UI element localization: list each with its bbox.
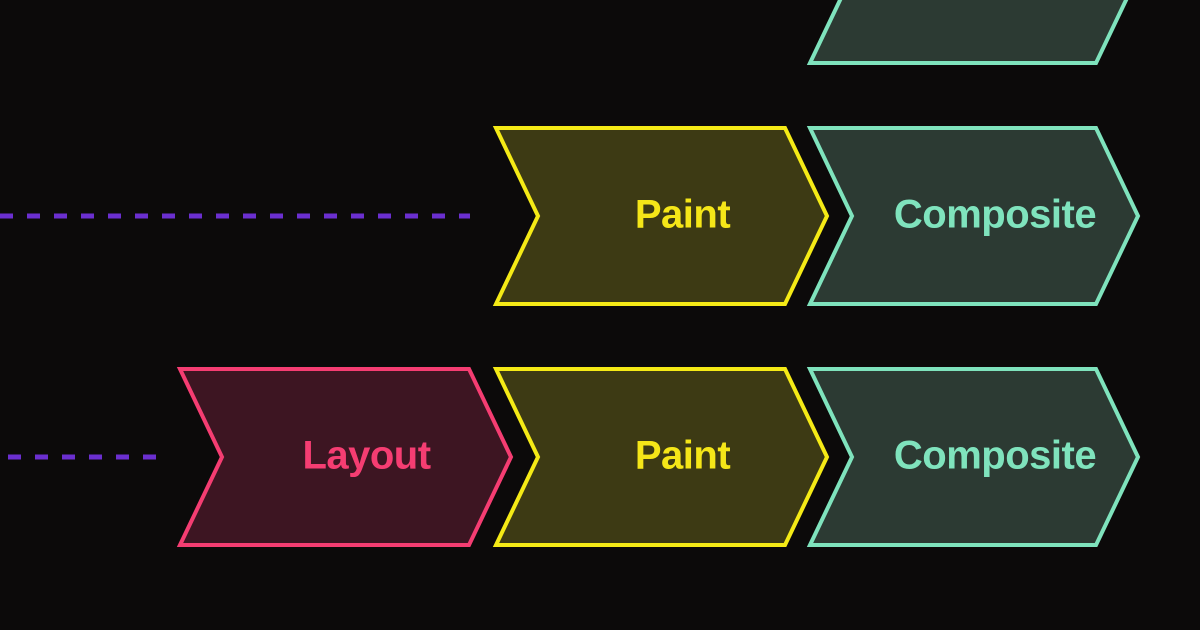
chevron-label-composite: Composite (894, 193, 1096, 237)
chevron-label-composite: Composite (894, 434, 1096, 478)
chevron-label-paint: Paint (635, 193, 730, 237)
diagram-canvas: CompositePaintCompositeLayoutPaintCompos… (0, 0, 1200, 630)
pipeline-stage-composite[interactable]: Composite (810, 0, 1138, 63)
pipeline-stage-layout[interactable]: Layout (180, 369, 511, 545)
rendering-pipeline-diagram: CompositePaintCompositeLayoutPaintCompos… (0, 0, 1200, 630)
chevron-shape-composite[interactable] (810, 0, 1138, 63)
chevron-group: CompositePaintCompositeLayoutPaintCompos… (180, 0, 1138, 545)
pipeline-stage-paint[interactable]: Paint (496, 369, 827, 545)
pipeline-stage-composite[interactable]: Composite (810, 128, 1138, 304)
pipeline-stage-composite[interactable]: Composite (810, 369, 1138, 545)
pipeline-stage-paint[interactable]: Paint (496, 128, 827, 304)
chevron-label-layout: Layout (302, 434, 430, 478)
chevron-label-paint: Paint (635, 434, 730, 478)
